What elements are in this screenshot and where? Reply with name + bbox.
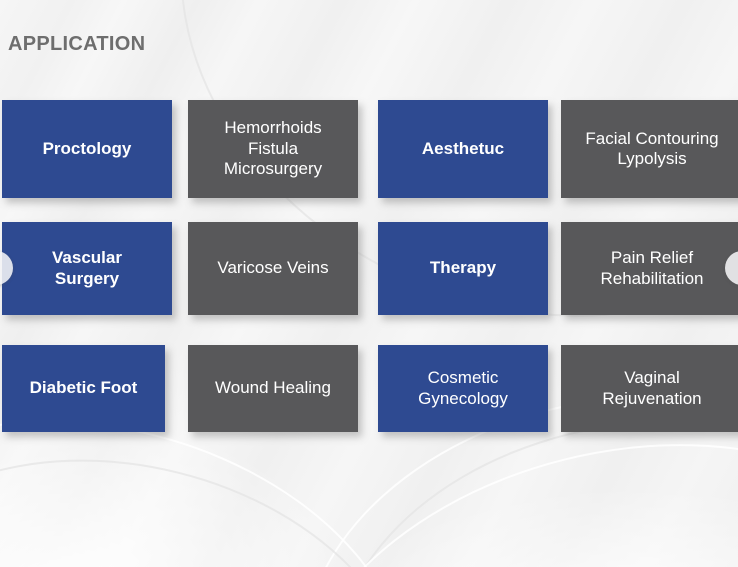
app-card-label: Cosmetic Gynecology — [418, 368, 508, 409]
app-card-label: Wound Healing — [215, 378, 331, 398]
app-card-therapy[interactable]: Therapy — [378, 222, 548, 315]
app-card-facial-contouring[interactable]: Facial Contouring Lypolysis — [561, 100, 738, 198]
app-card-pain-relief[interactable]: Pain Relief Rehabilitation — [561, 222, 738, 315]
application-card-grid: ProctologyHemorrhoids Fistula Microsurge… — [0, 0, 738, 567]
application-slide: APPLICATION ProctologyHemorrhoids Fistul… — [0, 0, 738, 567]
app-card-label: Vascular Surgery — [52, 248, 122, 289]
app-card-varicose-veins[interactable]: Varicose Veins — [188, 222, 358, 315]
app-card-wound-healing[interactable]: Wound Healing — [188, 345, 358, 432]
app-card-vascular-surgery[interactable]: Vascular Surgery — [2, 222, 172, 315]
app-card-label: Pain Relief Rehabilitation — [600, 248, 703, 289]
app-card-label: Hemorrhoids Fistula Microsurgery — [224, 118, 322, 179]
app-card-proctology[interactable]: Proctology — [2, 100, 172, 198]
app-card-label: Varicose Veins — [217, 258, 328, 278]
app-card-vaginal-rejuvenation[interactable]: Vaginal Rejuvenation — [561, 345, 738, 432]
app-card-label: Vaginal Rejuvenation — [602, 368, 701, 409]
app-card-hemorrhoids[interactable]: Hemorrhoids Fistula Microsurgery — [188, 100, 358, 198]
app-card-label: Diabetic Foot — [30, 378, 138, 398]
app-card-aesthetuc[interactable]: Aesthetuc — [378, 100, 548, 198]
app-card-label: Facial Contouring Lypolysis — [585, 129, 718, 170]
app-card-label: Aesthetuc — [422, 139, 504, 159]
app-card-cosmetic-gynecology[interactable]: Cosmetic Gynecology — [378, 345, 548, 432]
app-card-label: Proctology — [43, 139, 132, 159]
app-card-diabetic-foot[interactable]: Diabetic Foot — [2, 345, 165, 432]
app-card-label: Therapy — [430, 258, 496, 278]
